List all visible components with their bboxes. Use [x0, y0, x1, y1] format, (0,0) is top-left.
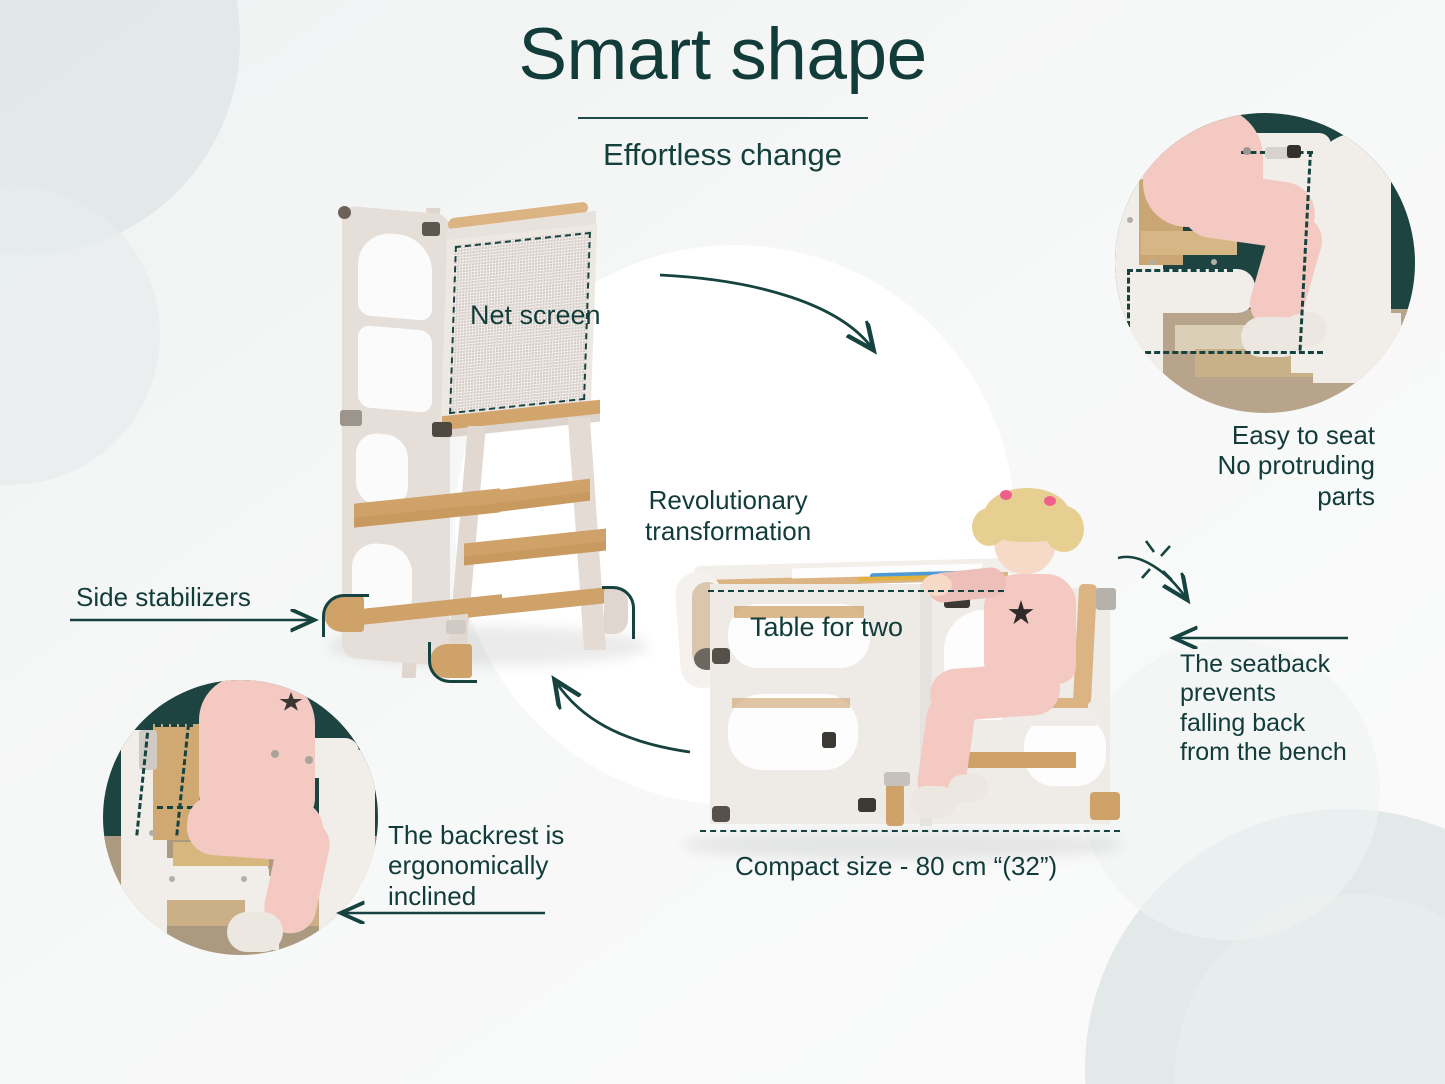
background-blob-top-left-small: [0, 185, 160, 485]
photo-easy-to-seat: [1115, 113, 1415, 413]
title-divider: [578, 117, 868, 119]
photo-ergonomic-backrest: [103, 680, 378, 955]
product-learning-tower: [318, 196, 658, 676]
callout-side-stabilizers: Side stabilizers: [76, 582, 251, 612]
label-table-for-two: Table for two: [750, 612, 903, 643]
callout-compact-size: Compact size - 80 cm “(32”): [735, 851, 1057, 881]
callout-easy-to-seat: Easy to seat No protruding parts: [1217, 420, 1375, 511]
infographic-canvas: Smart shape Effortless change: [0, 0, 1445, 1084]
callout-revolutionary-transformation: Revolutionary transformation: [645, 485, 811, 547]
compact-size-dashed-line: [700, 830, 1120, 832]
table-width-dashed-line: [708, 590, 1004, 592]
label-net-screen: Net screen: [470, 300, 601, 331]
callout-backrest-inclined: The backrest is ergonomically inclined: [388, 820, 564, 911]
callout-seatback-prevents-falling: The seatback prevents falling back from …: [1180, 650, 1347, 767]
product-desk-bench: [672, 548, 1142, 858]
page-title: Smart shape: [0, 18, 1445, 91]
